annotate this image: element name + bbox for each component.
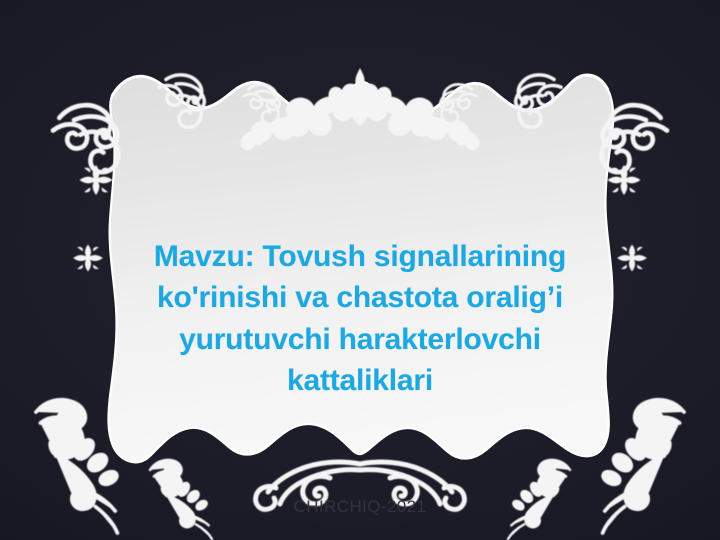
title-slide: Mavzu: Tovush signallarining ko'rinishi … bbox=[0, 0, 720, 540]
title-line-3: yurutuvchi harakterlovchi bbox=[0, 319, 720, 360]
title-line-4: kattaliklari bbox=[0, 360, 720, 401]
title-line-1: Mavzu: Tovush signallarining bbox=[0, 236, 720, 277]
slide-subtitle: CHIRCHIQ-2021 bbox=[0, 497, 720, 517]
slide-title: Mavzu: Tovush signallarining ko'rinishi … bbox=[0, 236, 720, 402]
title-line-2: ko'rinishi va chastota oralig’i bbox=[0, 277, 720, 318]
